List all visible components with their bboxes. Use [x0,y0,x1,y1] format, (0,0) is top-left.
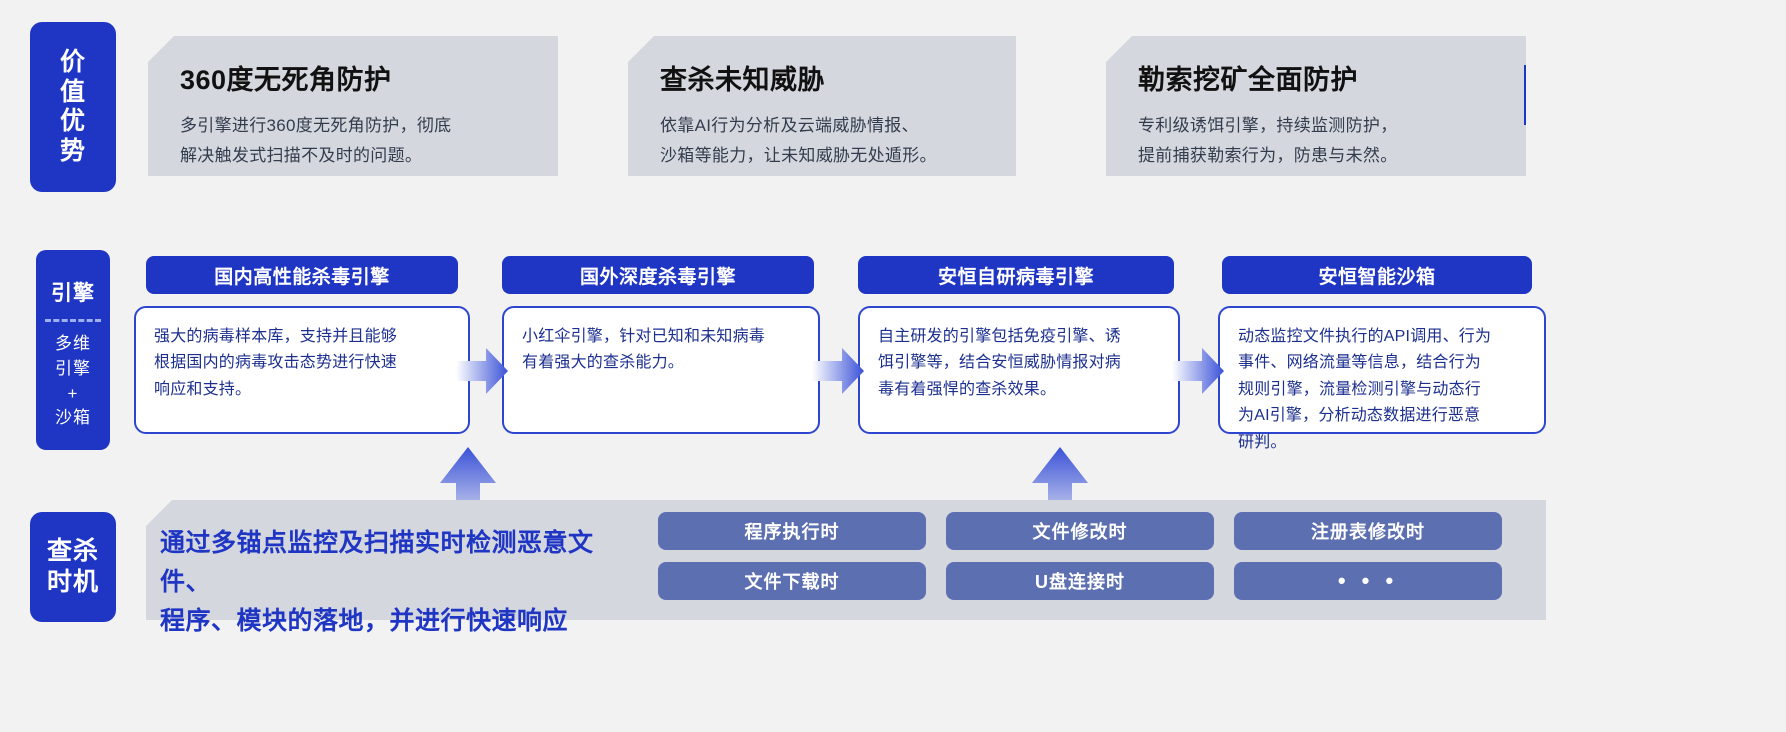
value-card-desc-line: 多引擎进行360度无死角防护，彻底 [180,111,558,141]
section-tab-engine: 引擎 多维 引擎 + 沙箱 [36,250,110,450]
timing-tab-line: 查杀 [47,536,99,567]
section-tab-scan-timing: 查杀 时机 [30,512,116,622]
timing-tab-line: 时机 [47,567,99,598]
engine-tab-sub-line: 多维 [55,332,91,357]
value-tab-char-1: 值 [60,78,86,108]
value-card[interactable]: 查杀未知威胁 依靠AI行为分析及云端威胁情报、 沙箱等能力，让未知威胁无处遁形。 [628,36,1016,176]
value-card-description: 依靠AI行为分析及云端威胁情报、 沙箱等能力，让未知威胁无处遁形。 [660,111,1016,171]
engine-body-line: 根据国内的病毒攻击态势进行快速 [154,350,452,376]
arrow-right-icon [812,348,864,394]
value-card-title: 查杀未知威胁 [660,58,1016,97]
timing-tag[interactable]: 文件下载时 [658,562,926,600]
engine-body-line: 规则引擎，流量检测引擎与动态行 [1238,377,1528,403]
engine-body-line: 响应和支持。 [154,377,452,403]
shield-sofa-icon [1524,65,1584,125]
value-card-desc-line: 解决触发式扫描不及时的问题。 [180,141,558,171]
value-card-content: 360度无死角防护 多引擎进行360度无死角防护，彻底 解决触发式扫描不及时的问… [148,36,558,176]
engine-header[interactable]: 安恒自研病毒引擎 [858,256,1174,294]
engine-tab-subtitle: 多维 引擎 + 沙箱 [55,332,91,431]
engine-header[interactable]: 国外深度杀毒引擎 [502,256,814,294]
timing-tag-ellipsis[interactable]: • • • [1234,562,1502,600]
section-tab-value-advantage: 价 值 优 势 [30,22,116,192]
timing-tag[interactable]: 注册表修改时 [1234,512,1502,550]
engine-body-line: 强大的病毒样本库，支持并且能够 [154,324,452,350]
value-card-desc-line: 专利级诱饵引擎，持续监测防护， [1138,111,1526,141]
engine-tab-sub-line: 引擎 [55,357,91,382]
value-tab-char-3: 势 [60,137,86,167]
engine-body-line: 动态监控文件执行的API调用、行为 [1238,324,1528,350]
value-card-title: 勒索挖矿全面防护 [1138,58,1526,97]
engine-body: 小红伞引擎，针对已知和未知病毒 有着强大的查杀能力。 [502,306,820,434]
engine-body: 强大的病毒样本库，支持并且能够 根据国内的病毒攻击态势进行快速 响应和支持。 [134,306,470,434]
value-card[interactable]: 勒索挖矿全面防护 专利级诱饵引擎，持续监测防护， 提前捕获勒索行为，防患与未然。 [1106,36,1526,176]
engine-body-line: 研判。 [1238,430,1528,456]
timing-tag[interactable]: U盘连接时 [946,562,1214,600]
engine-header[interactable]: 国内高性能杀毒引擎 [146,256,458,294]
value-card-desc-line: 沙箱等能力，让未知威胁无处遁形。 [660,141,1016,171]
timing-tag[interactable]: 程序执行时 [658,512,926,550]
value-card-description: 专利级诱饵引擎，持续监测防护， 提前捕获勒索行为，防患与未然。 [1138,111,1526,171]
value-card-description: 多引擎进行360度无死角防护，彻底 解决触发式扫描不及时的问题。 [180,111,558,171]
engine-body-line: 有着强大的查杀能力。 [522,350,802,376]
engine-body-line: 事件、网络流量等信息，结合行为 [1238,350,1528,376]
arrow-right-icon [1172,348,1224,394]
timing-statement-line: 通过多锚点监控及扫描实时检测恶意文件、 [160,524,630,602]
value-card-content: 勒索挖矿全面防护 专利级诱饵引擎，持续监测防护， 提前捕获勒索行为，防患与未然。 [1106,36,1526,176]
timing-statement-line: 程序、模块的落地，并进行快速响应 [160,602,630,641]
engine-body: 动态监控文件执行的API调用、行为 事件、网络流量等信息，结合行为 规则引擎，流… [1218,306,1546,434]
engine-body-line: 自主研发的引擎包括免疫引擎、诱 [878,324,1162,350]
engine-tab-sub-line: 沙箱 [55,406,91,431]
dashed-divider [45,319,101,322]
value-card-title: 360度无死角防护 [180,58,558,97]
engine-body-line: 小红伞引擎，针对已知和未知病毒 [522,324,802,350]
engine-body-line: 毒有着强悍的查杀效果。 [878,377,1162,403]
value-card[interactable]: 360度无死角防护 多引擎进行360度无死角防护，彻底 解决触发式扫描不及时的问… [148,36,558,176]
infographic-page: 价 值 优 势 360度无死角防护 多引擎进行360度无死角防护，彻底 解决触发… [0,0,1786,732]
engine-tab-sub-line: + [55,382,91,407]
engine-body-line: 饵引擎等，结合安恒威胁情报对病 [878,350,1162,376]
engine-body: 自主研发的引擎包括免疫引擎、诱 饵引擎等，结合安恒威胁情报对病 毒有着强悍的查杀… [858,306,1180,434]
value-card-desc-line: 提前捕获勒索行为，防患与未然。 [1138,141,1526,171]
shield-sofa-icon [1018,65,1078,125]
value-tab-char-0: 价 [60,48,86,78]
engine-tab-title: 引擎 [51,269,95,319]
timing-statement: 通过多锚点监控及扫描实时检测恶意文件、 程序、模块的落地，并进行快速响应 [160,524,630,640]
shield-sofa-icon [560,65,620,125]
engine-body-line: 为AI引擎，分析动态数据进行恶意 [1238,403,1528,429]
timing-tag[interactable]: 文件修改时 [946,512,1214,550]
value-tab-char-2: 优 [60,107,86,137]
value-card-content: 查杀未知威胁 依靠AI行为分析及云端威胁情报、 沙箱等能力，让未知威胁无处遁形。 [628,36,1016,176]
engine-header[interactable]: 安恒智能沙箱 [1222,256,1532,294]
value-card-desc-line: 依靠AI行为分析及云端威胁情报、 [660,111,1016,141]
arrow-right-icon [456,348,508,394]
timing-tag-grid: 程序执行时 文件修改时 注册表修改时 文件下载时 U盘连接时 • • • [658,512,1534,600]
